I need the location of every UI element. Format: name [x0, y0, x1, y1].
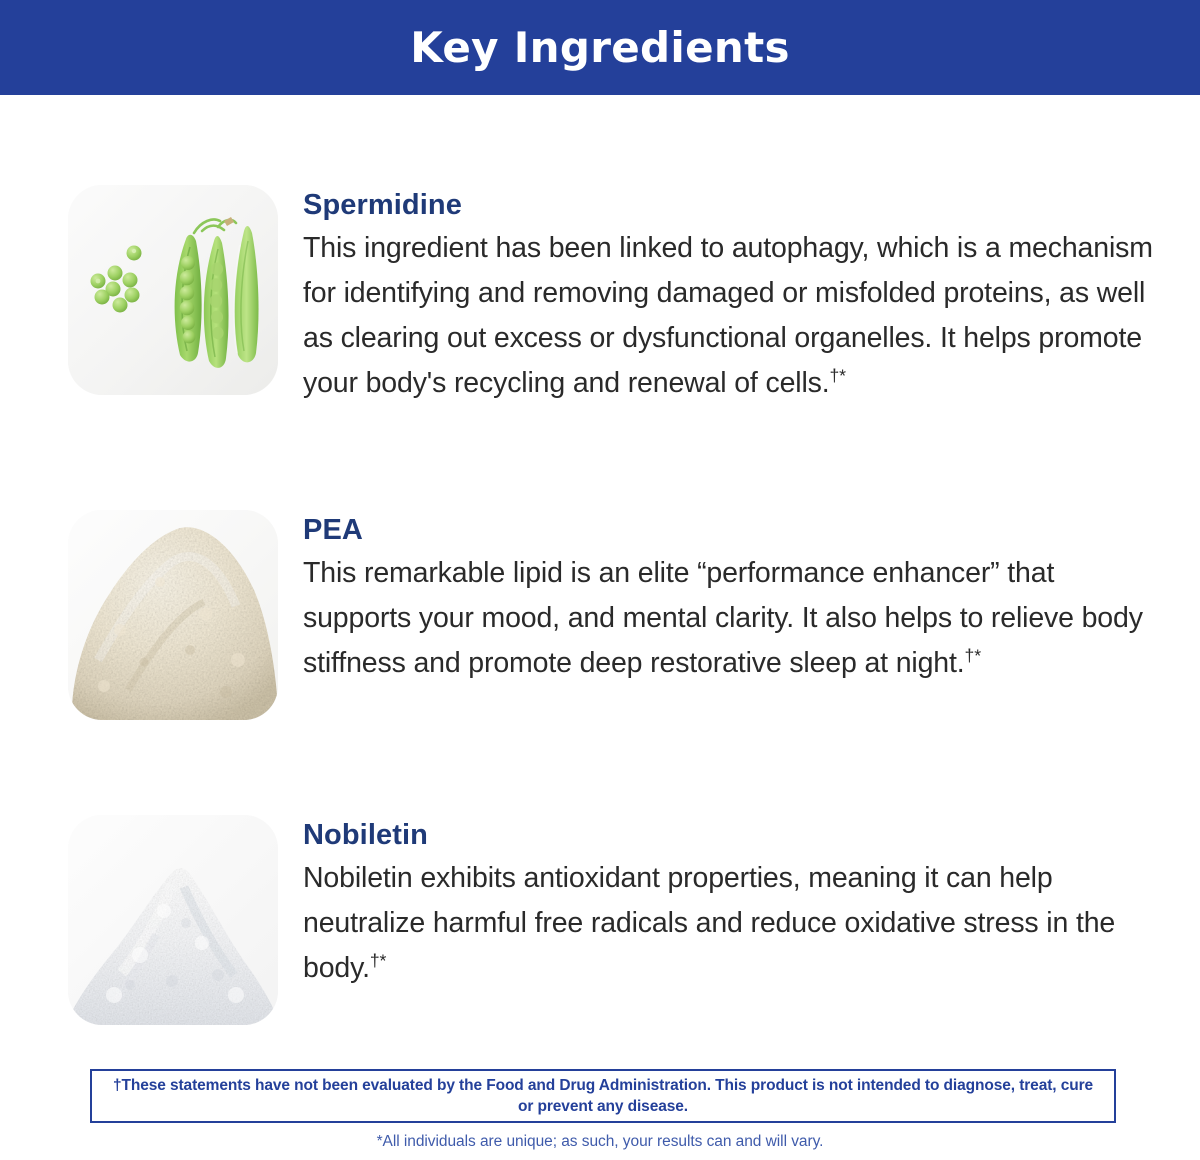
footnote-marker: †*: [370, 951, 386, 971]
fda-disclaimer-box: †These statements have not been evaluate…: [90, 1069, 1116, 1123]
ingredient-item-pea: PEA This remarkable lipid is an elite “p…: [68, 510, 1163, 720]
ingredient-description: This ingredient has been linked to autop…: [303, 226, 1163, 406]
white-powder-photo: [68, 815, 278, 1025]
ingredient-description-text: This remarkable lipid is an elite “perfo…: [303, 557, 1143, 679]
ingredient-description-text: Nobiletin exhibits antioxidant propertie…: [303, 862, 1115, 984]
page-header: Key Ingredients: [0, 0, 1200, 95]
ingredient-name: PEA: [303, 512, 1163, 548]
ingredient-item-spermidine: Spermidine This ingredient has been link…: [68, 185, 1163, 406]
page-title: Key Ingredients: [410, 27, 790, 69]
footnote-marker: †*: [830, 366, 846, 386]
ingredient-description: This remarkable lipid is an elite “perfo…: [303, 551, 1163, 686]
key-ingredients-page: Key Ingredients: [0, 0, 1200, 1160]
ingredient-description: Nobiletin exhibits antioxidant propertie…: [303, 856, 1163, 991]
results-vary-footnote: *All individuals are unique; as such, yo…: [0, 1131, 1200, 1153]
ingredient-text-block: Spermidine This ingredient has been link…: [303, 185, 1163, 406]
cream-powder-photo: [68, 510, 278, 720]
ingredient-text-block: PEA This remarkable lipid is an elite “p…: [303, 510, 1163, 686]
ingredient-description-text: This ingredient has been linked to autop…: [303, 232, 1153, 399]
ingredient-name: Spermidine: [303, 187, 1163, 223]
ingredient-item-nobiletin: Nobiletin Nobiletin exhibits antioxidant…: [68, 815, 1163, 1025]
pea-pods-photo: [68, 185, 278, 395]
ingredient-text-block: Nobiletin Nobiletin exhibits antioxidant…: [303, 815, 1163, 991]
fda-disclaimer-text: †These statements have not been evaluate…: [106, 1075, 1100, 1117]
footnote-marker: †*: [965, 646, 981, 666]
ingredient-name: Nobiletin: [303, 817, 1163, 853]
